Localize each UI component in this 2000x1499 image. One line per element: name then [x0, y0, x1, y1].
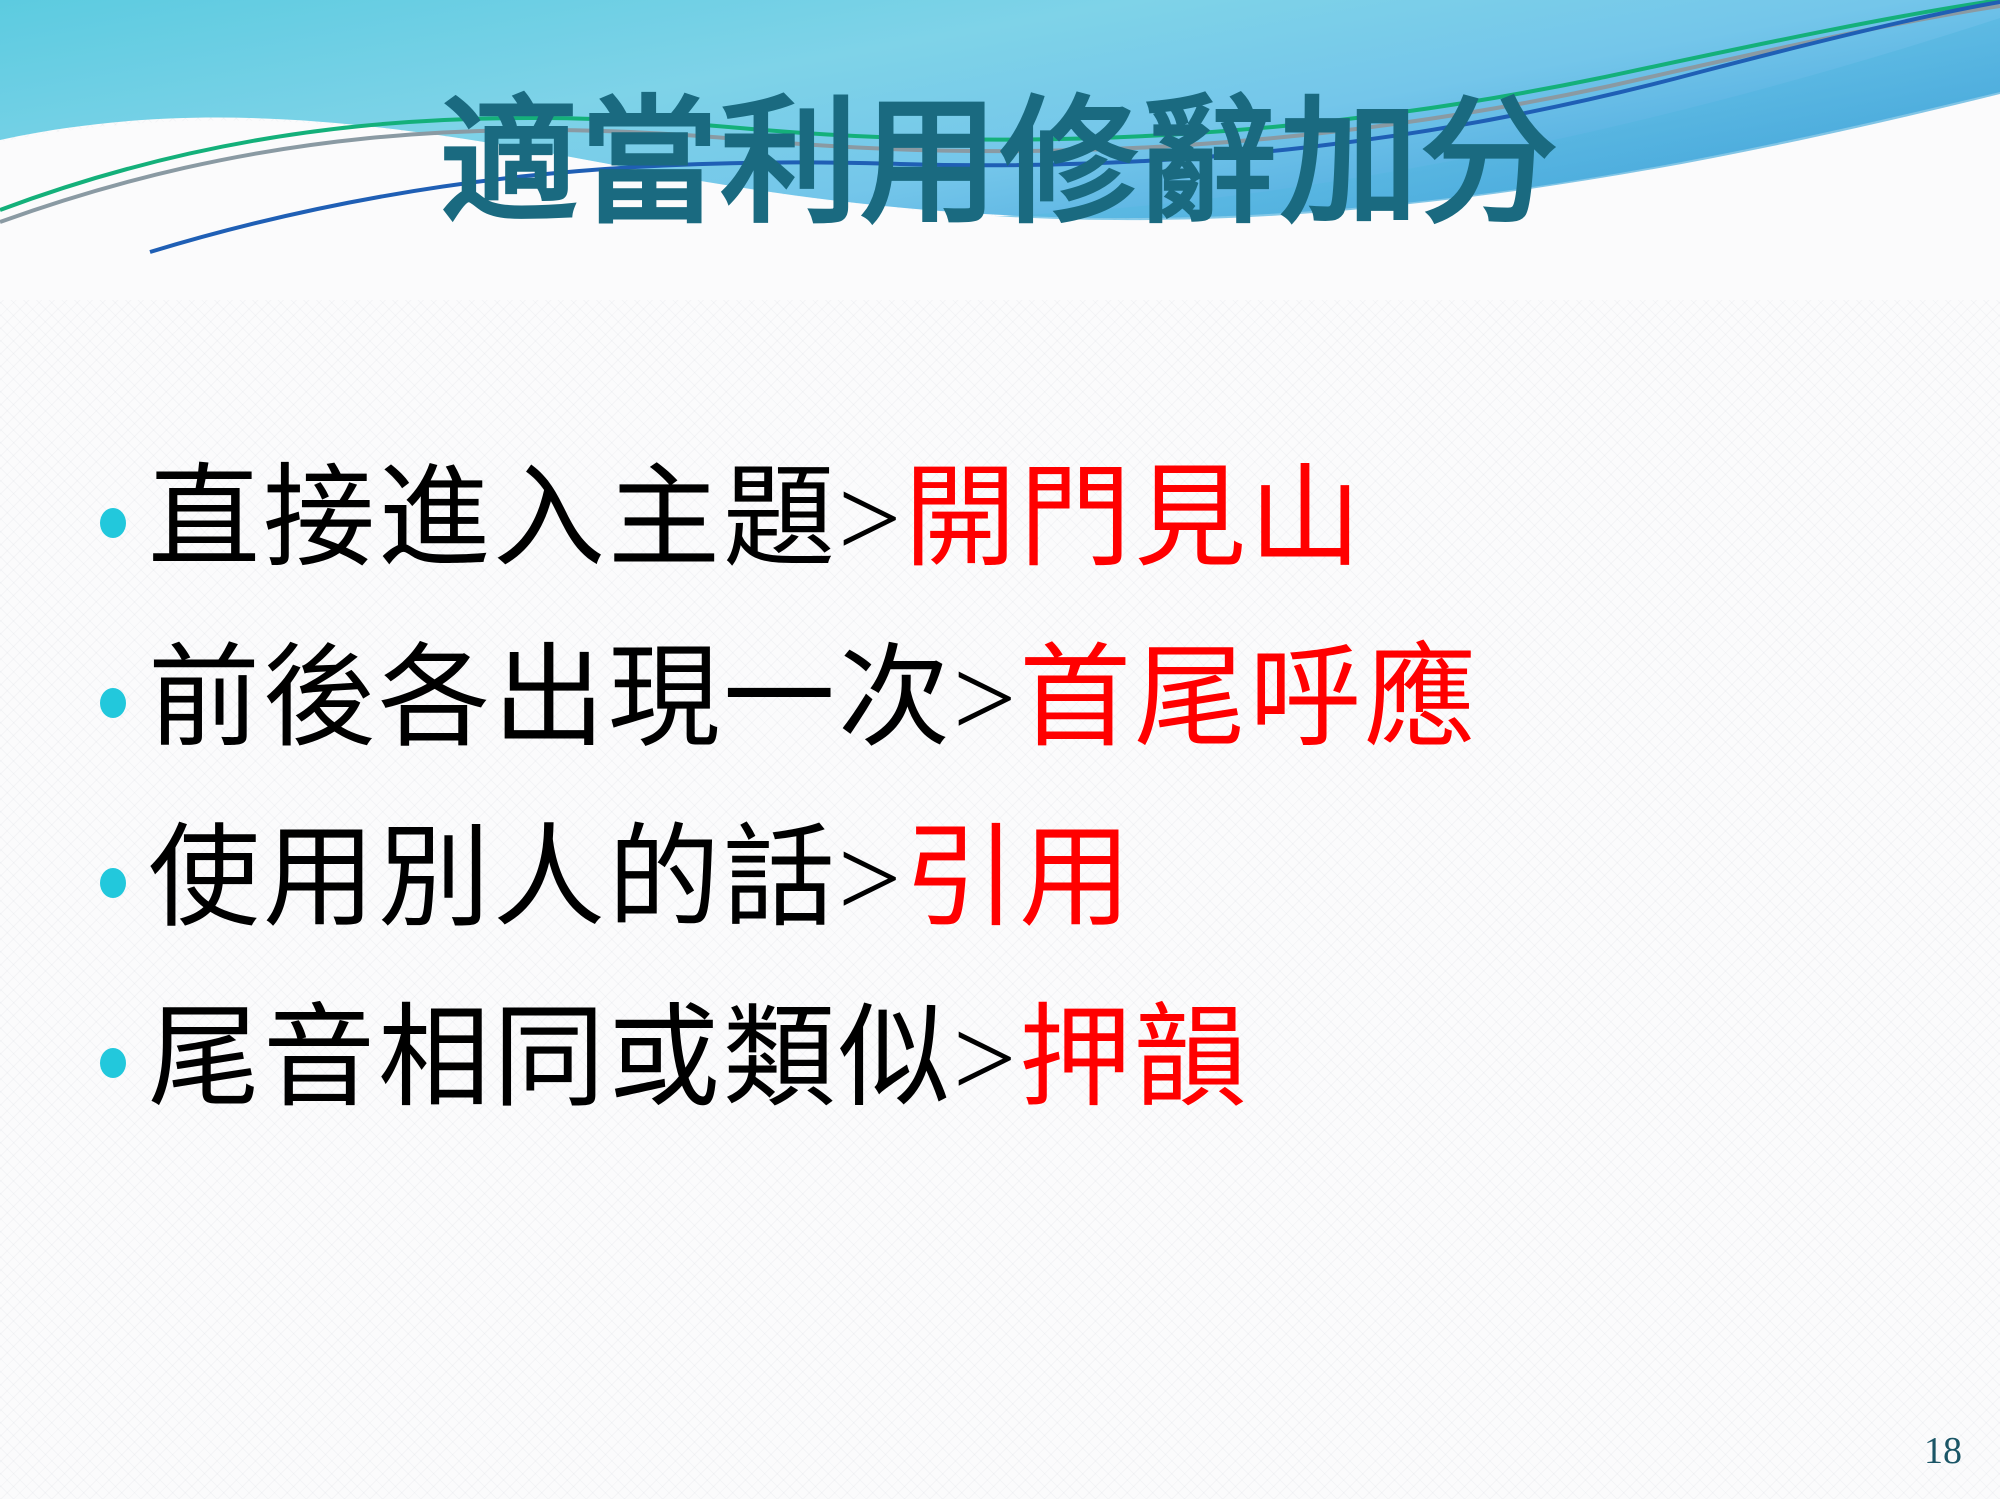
list-item-emphasis-text: 引用: [904, 817, 1134, 941]
slide-title: 適當利用修辭加分: [440, 88, 1560, 237]
list-item-text: 前後各出現一次>首尾呼應: [148, 637, 1479, 762]
bullet-dot-icon: [100, 508, 126, 538]
title-block: 適當利用修辭加分: [0, 88, 2000, 237]
list-item-text: 使用別人的話>引用: [148, 817, 1134, 942]
list-item-separator: >: [953, 997, 1019, 1121]
list-item-separator: >: [838, 457, 904, 581]
list-item: 使用別人的話>引用: [100, 790, 1920, 970]
list-item-plain-text: 前後各出現一次: [148, 637, 953, 761]
list-item: 前後各出現一次>首尾呼應: [100, 610, 1920, 790]
list-item-text: 直接進入主題>開門見山: [148, 457, 1364, 582]
list-item-plain-text: 尾音相同或類似: [148, 997, 953, 1121]
bullet-dot-icon: [100, 688, 126, 718]
list-item-plain-text: 直接進入主題: [148, 457, 838, 581]
bullet-list: 直接進入主題>開門見山 前後各出現一次>首尾呼應 使用別人的話>引用 尾音相同或…: [100, 430, 1920, 1150]
bullet-dot-icon: [100, 868, 126, 898]
list-item-text: 尾音相同或類似>押韻: [148, 997, 1249, 1122]
list-item-plain-text: 使用別人的話: [148, 817, 838, 941]
list-item-emphasis-text: 首尾呼應: [1019, 637, 1479, 761]
list-item-emphasis-text: 開門見山: [904, 457, 1364, 581]
list-item-separator: >: [838, 817, 904, 941]
list-item: 直接進入主題>開門見山: [100, 430, 1920, 610]
list-item-emphasis-text: 押韻: [1019, 997, 1249, 1121]
list-item: 尾音相同或類似>押韻: [100, 970, 1920, 1150]
list-item-separator: >: [953, 637, 1019, 761]
bullet-dot-icon: [100, 1048, 126, 1078]
page-number: 18: [1924, 1429, 1962, 1473]
presentation-slide: 適當利用修辭加分 直接進入主題>開門見山 前後各出現一次>首尾呼應 使用別人的話…: [0, 0, 2000, 1499]
